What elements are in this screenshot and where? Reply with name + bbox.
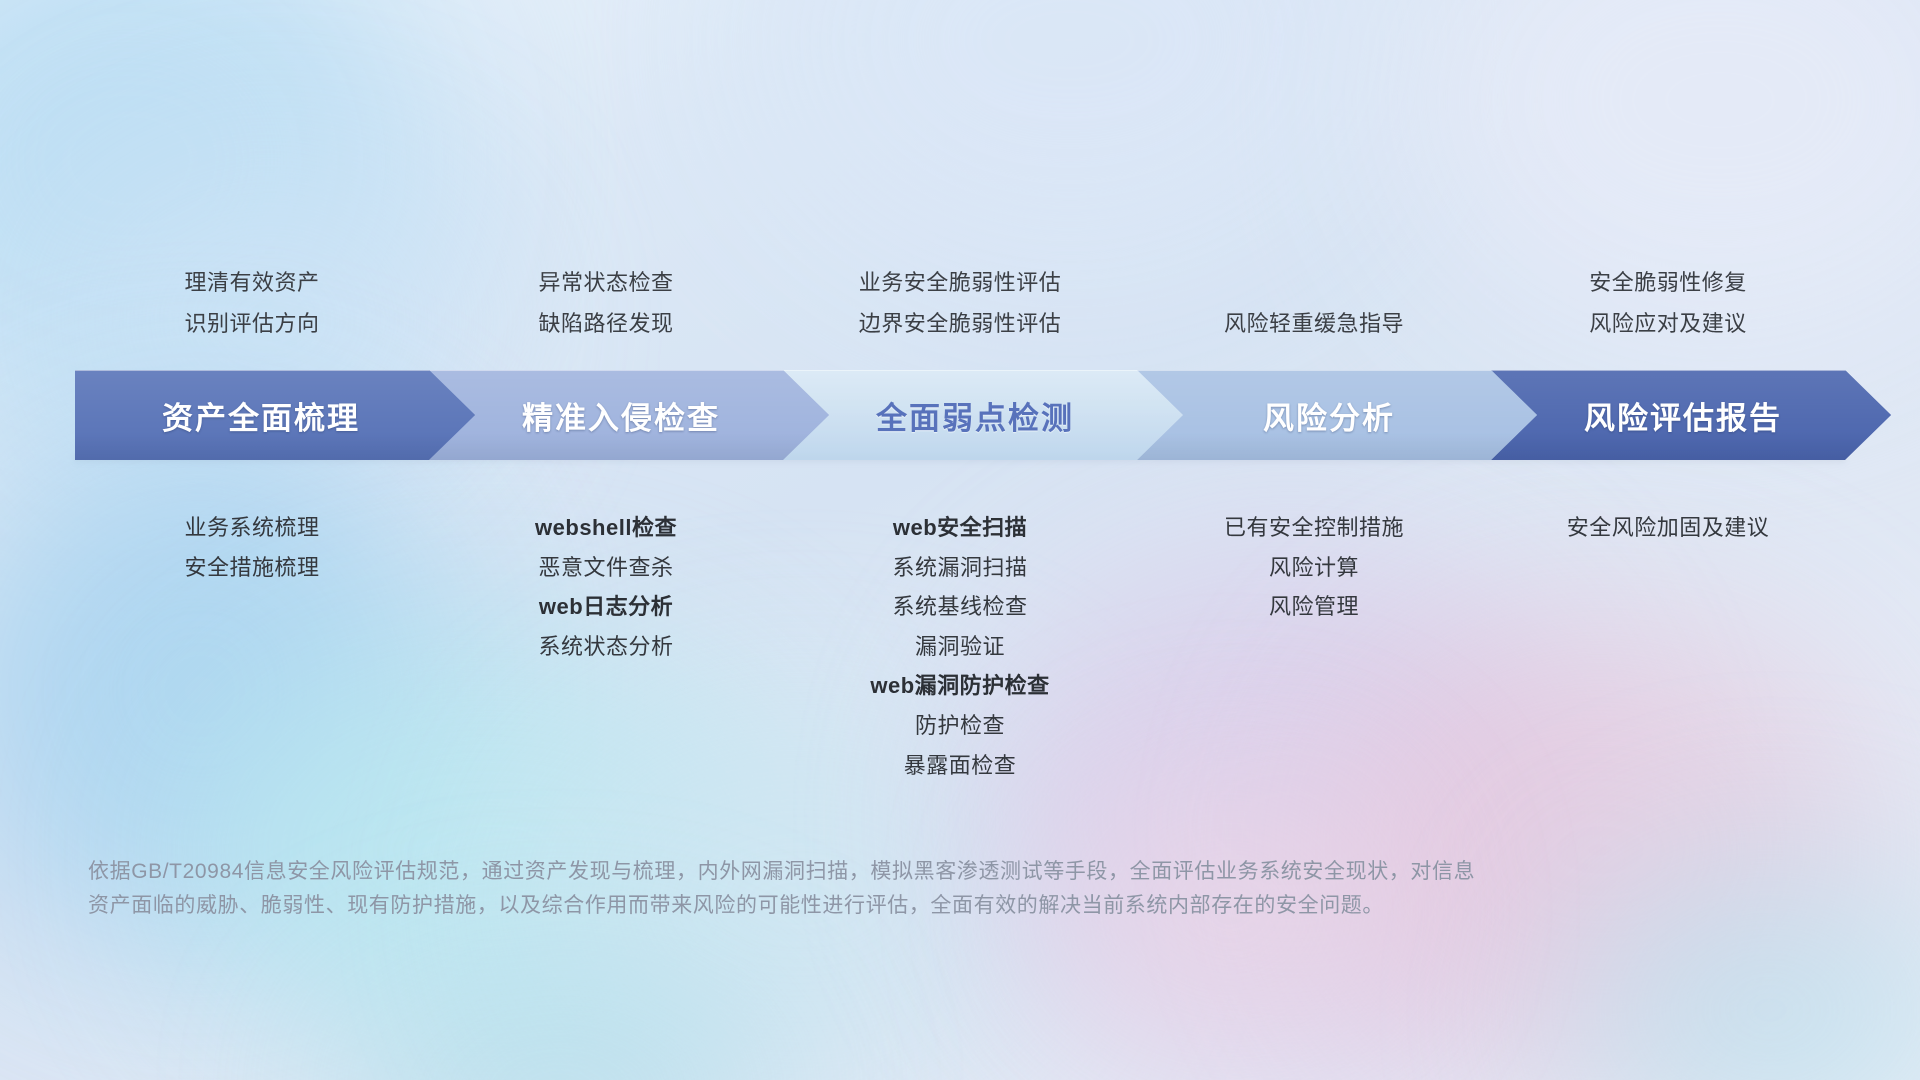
chevron-label: 精准入侵检查 xyxy=(522,393,720,438)
footer-description: 依据GB/T20984信息安全风险评估规范，通过资产发现与梳理，内外网漏洞扫描，… xyxy=(88,855,1588,923)
stage-3-detail-item-2: 风险管理 xyxy=(1107,587,1521,627)
stage-2-detail-item-2: 系统基线检查 xyxy=(753,587,1167,627)
chevron-stage-2[interactable]: 全面弱点检测 xyxy=(783,370,1183,460)
stage-0-top-item-1: 识别评估方向 xyxy=(75,304,429,345)
stage-1-detail-item-2: web日志分析 xyxy=(399,587,813,627)
stage-4-detail-item-0: 安全风险加固及建议 xyxy=(1461,508,1875,548)
chevron-label: 风险分析 xyxy=(1263,393,1395,438)
stage-2-top-notes: 业务安全脆弱性评估边界安全脆弱性评估 xyxy=(783,263,1137,344)
stage-2-detail-item-3: 漏洞验证 xyxy=(753,627,1167,667)
stage-2-detail-item-0: web安全扫描 xyxy=(753,508,1167,548)
stage-1-detail-item-0: webshell检查 xyxy=(399,508,813,548)
stage-4-top-item-1: 风险应对及建议 xyxy=(1491,304,1845,345)
chevron-label: 风险评估报告 xyxy=(1584,393,1782,438)
stage-0-detail-item-1: 安全措施梳理 xyxy=(45,548,459,588)
chevron-stage-0[interactable]: 资产全面梳理 xyxy=(75,370,475,460)
stage-4-top-item-0: 安全脆弱性修复 xyxy=(1491,263,1845,304)
stage-3-detail-item-0: 已有安全控制措施 xyxy=(1107,508,1521,548)
stage-1-detail-item-3: 系统状态分析 xyxy=(399,627,813,667)
stage-3-top-notes: 风险轻重缓急指导 xyxy=(1137,304,1491,345)
stage-0-detail-item-0: 业务系统梳理 xyxy=(45,508,459,548)
footer-line-1: 依据GB/T20984信息安全风险评估规范，通过资产发现与梳理，内外网漏洞扫描，… xyxy=(88,855,1588,889)
footer-line-2: 资产面临的威胁、脆弱性、现有防护措施，以及综合作用而带来风险的可能性进行评估，全… xyxy=(88,889,1588,923)
stage-0-top-item-0: 理清有效资产 xyxy=(75,263,429,304)
stage-2-detail-item-1: 系统漏洞扫描 xyxy=(753,548,1167,588)
stage-4-top-notes: 安全脆弱性修复风险应对及建议 xyxy=(1491,263,1845,344)
stage-2-top-item-0: 业务安全脆弱性评估 xyxy=(783,263,1137,304)
chevron-label: 全面弱点检测 xyxy=(876,393,1074,438)
stage-0-detail-list: 业务系统梳理安全措施梳理 xyxy=(45,508,459,587)
stage-2-detail-list: web安全扫描系统漏洞扫描系统基线检查漏洞验证web漏洞防护检查防护检查暴露面检… xyxy=(753,508,1167,785)
stage-2-detail-item-4: web漏洞防护检查 xyxy=(753,666,1167,706)
stage-3-detail-list: 已有安全控制措施风险计算风险管理 xyxy=(1107,508,1521,627)
stage-2-detail-item-6: 暴露面检查 xyxy=(753,746,1167,786)
chevron-stage-1[interactable]: 精准入侵检查 xyxy=(429,370,829,460)
chevron-band: 资产全面梳理精准入侵检查全面弱点检测风险分析风险评估报告 xyxy=(75,370,1845,460)
stage-1-top-item-1: 缺陷路径发现 xyxy=(429,304,783,345)
stage-0-top-notes: 理清有效资产识别评估方向 xyxy=(75,263,429,344)
stage-1-detail-list: webshell检查恶意文件查杀web日志分析系统状态分析 xyxy=(399,508,813,666)
stage-2-detail-item-5: 防护检查 xyxy=(753,706,1167,746)
stage-1-top-item-0: 异常状态检查 xyxy=(429,263,783,304)
stage-4-detail-list: 安全风险加固及建议 xyxy=(1461,508,1875,548)
stage-3-detail-item-1: 风险计算 xyxy=(1107,548,1521,588)
process-flow-diagram: 理清有效资产识别评估方向 异常状态检查缺陷路径发现 业务安全脆弱性评估边界安全脆… xyxy=(0,0,1920,1080)
stage-3-top-item-0: 风险轻重缓急指导 xyxy=(1137,304,1491,345)
chevron-stage-4[interactable]: 风险评估报告 xyxy=(1491,370,1891,460)
stage-1-top-notes: 异常状态检查缺陷路径发现 xyxy=(429,263,783,344)
chevron-label: 资产全面梳理 xyxy=(162,393,360,438)
stage-2-top-item-1: 边界安全脆弱性评估 xyxy=(783,304,1137,345)
stage-1-detail-item-1: 恶意文件查杀 xyxy=(399,548,813,588)
chevron-stage-3[interactable]: 风险分析 xyxy=(1137,370,1537,460)
